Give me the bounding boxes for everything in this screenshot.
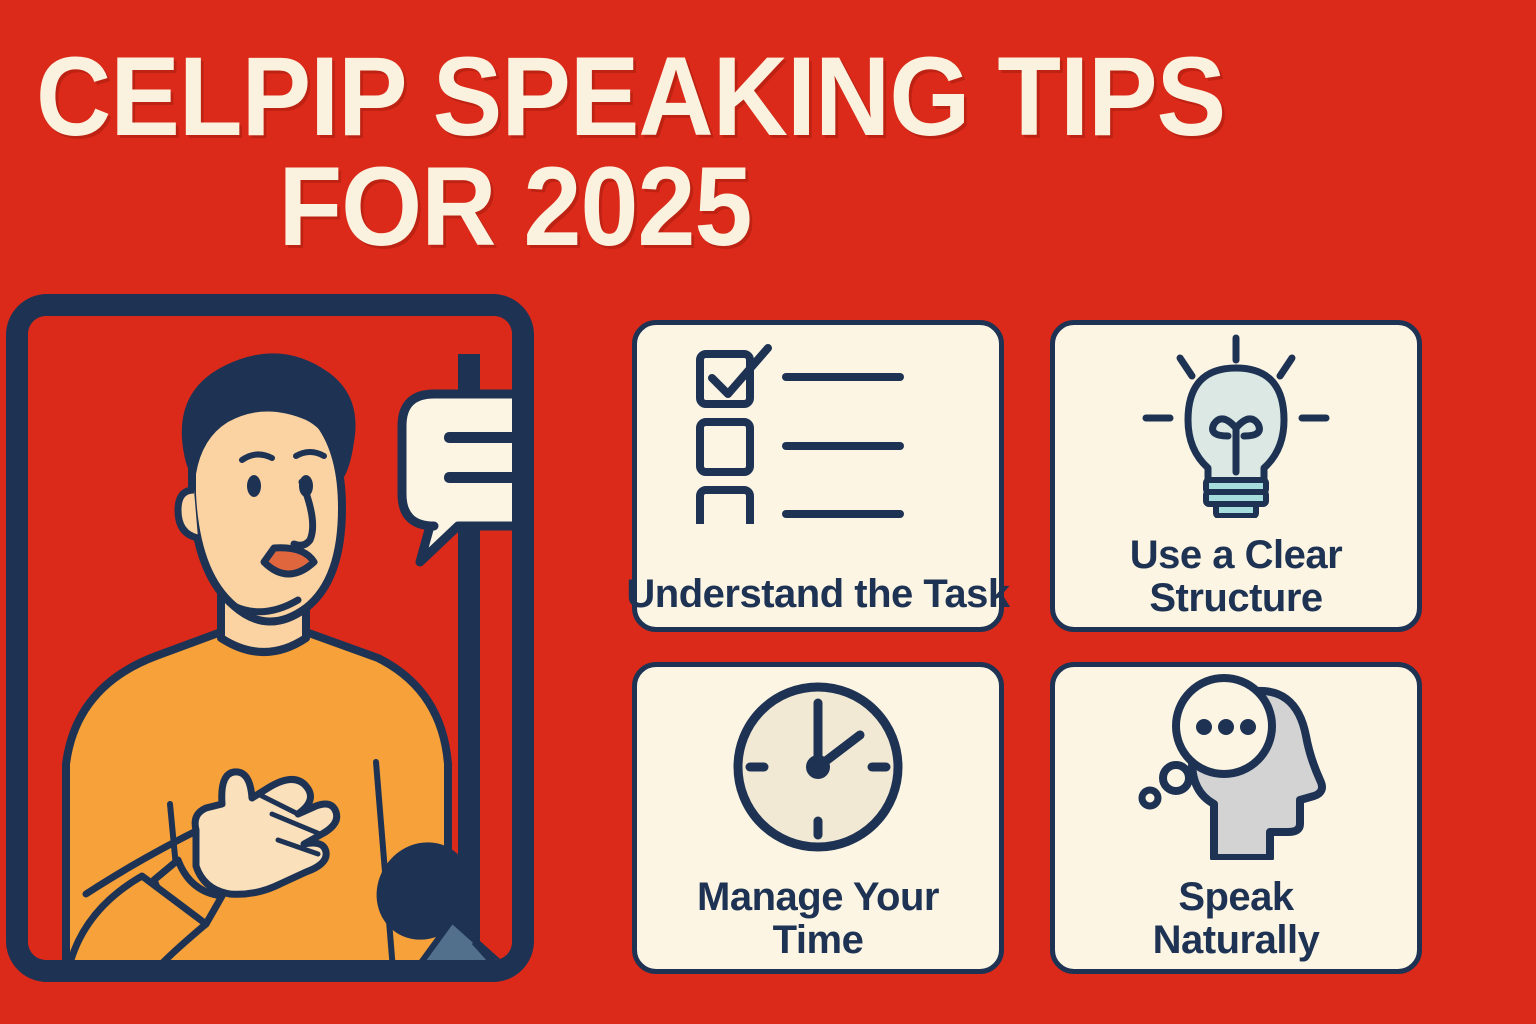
speaker-illustration — [6, 294, 534, 982]
page-title: CELPIP SPEAKING TIPS FOR 2025 — [0, 42, 1030, 262]
tip-label-line-1: Use a Clear — [1130, 533, 1342, 577]
tip-card-understand-the-task[interactable]: Understand the Task — [632, 320, 1004, 632]
tip-card-label: Use a Clear Structure — [1041, 534, 1431, 619]
tip-label-line-2: Structure — [1149, 576, 1322, 620]
poster-canvas: CELPIP SPEAKING TIPS FOR 2025 — [0, 0, 1536, 1024]
title-line-2: FOR 2025 — [36, 152, 994, 262]
title-line-1: CELPIP SPEAKING TIPS — [36, 42, 994, 152]
tip-card-use-a-clear-structure[interactable]: Use a Clear Structure — [1050, 320, 1422, 632]
tips-grid: Understand the Task — [632, 320, 1422, 974]
tip-card-label: Speak Naturally — [1041, 876, 1431, 961]
checklist-icon — [688, 339, 948, 529]
clock-icon — [728, 679, 908, 855]
tip-card-label: Understand the Task — [623, 573, 1013, 615]
tip-label-line-1: Manage Your — [697, 875, 939, 919]
tip-card-speak-naturally[interactable]: Speak Naturally — [1050, 662, 1422, 974]
tip-card-manage-your-time[interactable]: Manage Your Time — [632, 662, 1004, 974]
tip-label-line-1: Speak — [1178, 875, 1293, 919]
head-with-thought-bubble-icon — [1136, 679, 1336, 855]
tip-card-label: Manage Your Time — [623, 876, 1013, 961]
lightbulb-icon — [1136, 337, 1336, 513]
tip-label-line-2: Naturally — [1153, 918, 1320, 962]
person-smile — [264, 548, 314, 574]
tip-label-line-2: Time — [773, 918, 864, 962]
